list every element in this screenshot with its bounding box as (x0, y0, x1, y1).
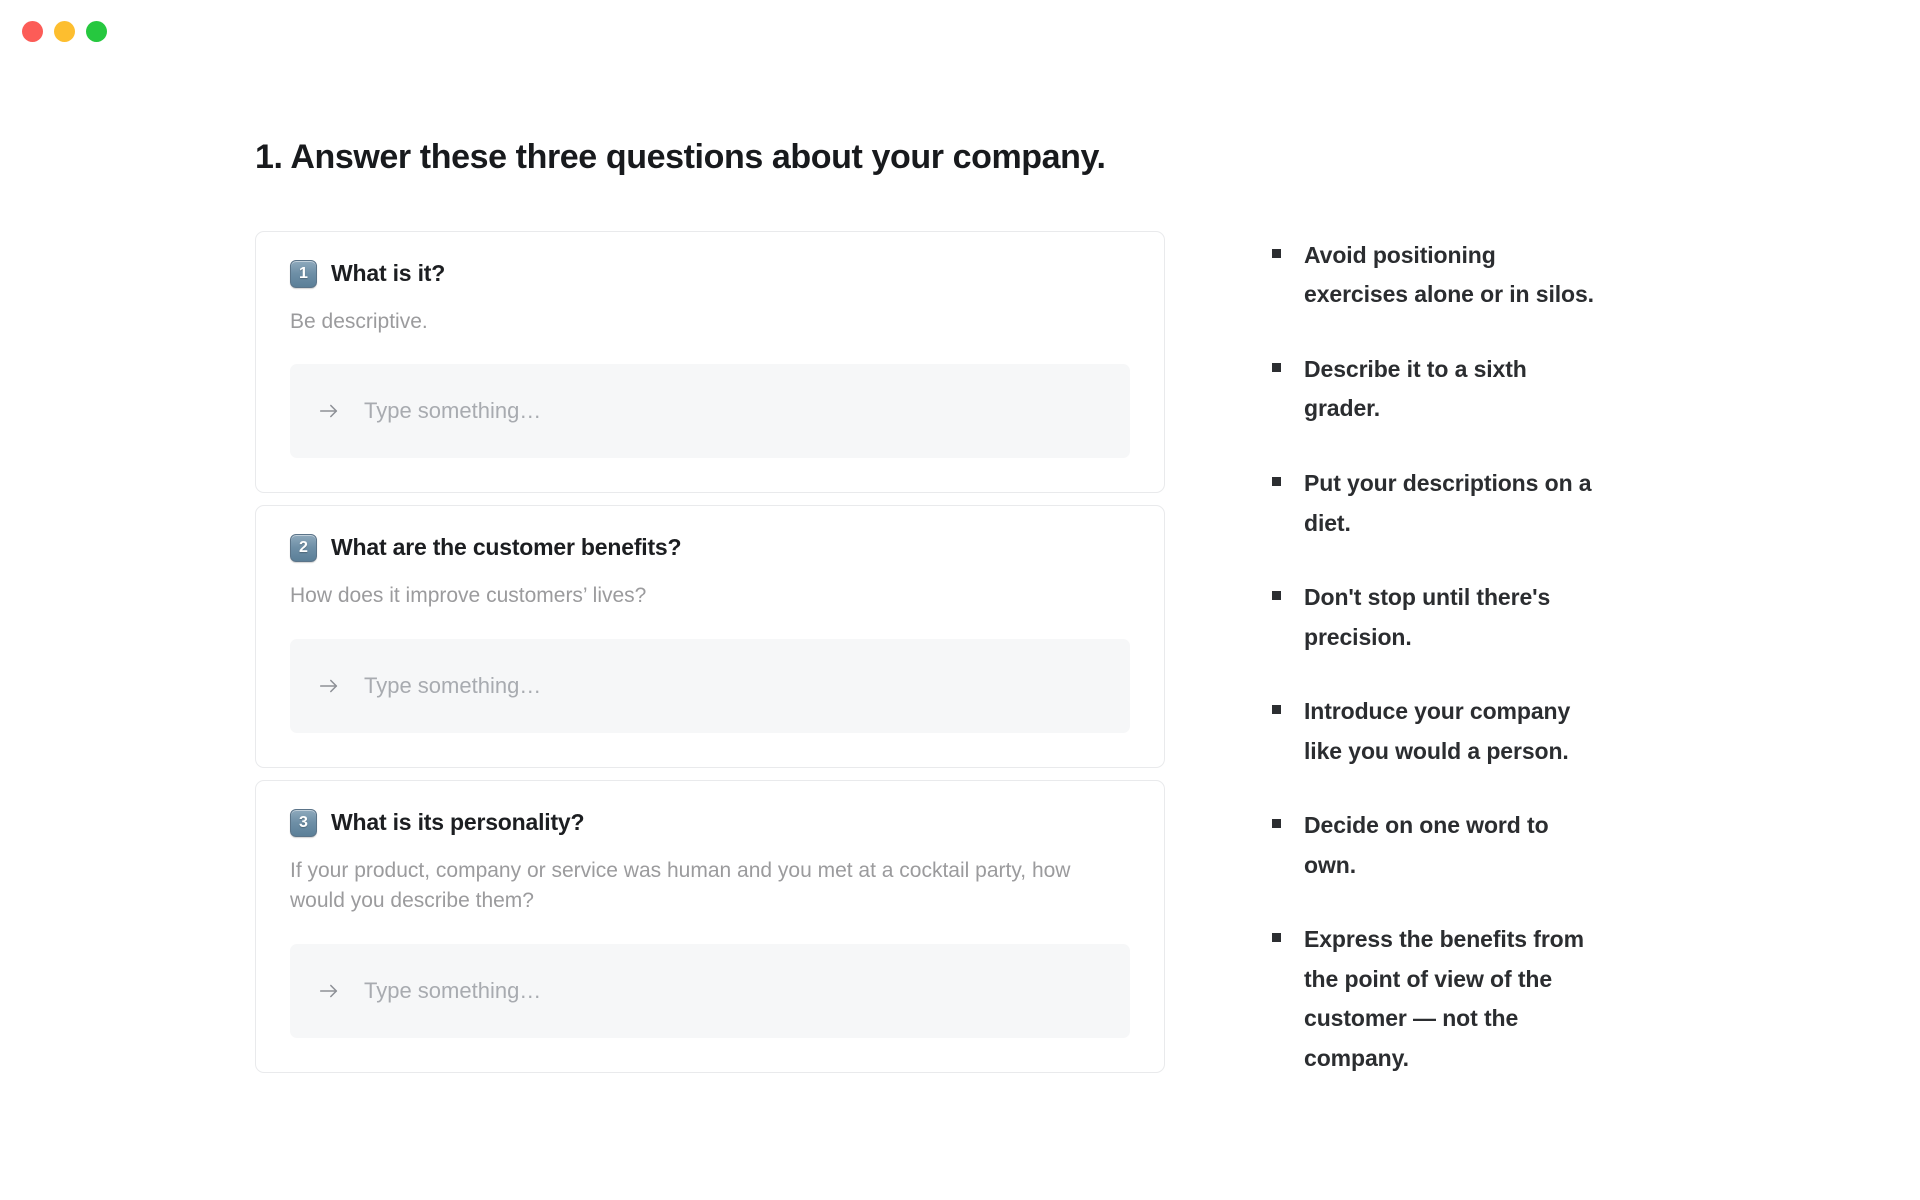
tips-list: Avoid positioning exercises alone or in … (1272, 236, 1602, 1079)
question-subtitle: Be descriptive. (290, 307, 1080, 337)
arrow-right-icon (318, 980, 340, 1002)
question-heading-row: 2 What are the customer benefits? (290, 534, 1130, 562)
answer-input[interactable]: Type something… (290, 639, 1130, 733)
window-minimize-button[interactable] (54, 21, 75, 42)
question-title: What are the customer benefits? (331, 534, 681, 562)
tip-text: Decide on one word to own. (1304, 806, 1602, 885)
list-item: Introduce your company like you would a … (1272, 692, 1602, 771)
question-title: What is it? (331, 260, 445, 288)
number-badge-icon: 2 (290, 534, 317, 562)
bullet-square-icon (1272, 363, 1281, 372)
window-close-button[interactable] (22, 21, 43, 42)
answer-input-placeholder: Type something… (364, 400, 541, 422)
answer-input-placeholder: Type something… (364, 675, 541, 697)
list-item: Describe it to a sixth grader. (1272, 350, 1602, 429)
bullet-square-icon (1272, 705, 1281, 714)
tip-text: Avoid positioning exercises alone or in … (1304, 236, 1602, 315)
answer-input-placeholder: Type something… (364, 980, 541, 1002)
question-title: What is its personality? (331, 809, 584, 837)
answer-input[interactable]: Type something… (290, 944, 1130, 1038)
questions-column: 1 What is it? Be descriptive. Type somet… (255, 231, 1165, 1085)
question-card: 1 What is it? Be descriptive. Type somet… (255, 231, 1165, 493)
bullet-square-icon (1272, 933, 1281, 942)
answer-input[interactable]: Type something… (290, 364, 1130, 458)
tip-text: Don't stop until there's precision. (1304, 578, 1602, 657)
bullet-square-icon (1272, 477, 1281, 486)
content-columns: 1 What is it? Be descriptive. Type somet… (255, 231, 1880, 1085)
list-item: Express the benefits from the point of v… (1272, 920, 1602, 1078)
question-subtitle: If your product, company or service was … (290, 856, 1080, 917)
tips-column: Avoid positioning exercises alone or in … (1165, 231, 1880, 1079)
question-subtitle: How does it improve customers’ lives? (290, 581, 1080, 611)
question-heading-row: 1 What is it? (290, 260, 1130, 288)
bullet-square-icon (1272, 249, 1281, 258)
tip-text: Describe it to a sixth grader. (1304, 350, 1602, 429)
list-item: Don't stop until there's precision. (1272, 578, 1602, 657)
list-item: Avoid positioning exercises alone or in … (1272, 236, 1602, 315)
list-item: Decide on one word to own. (1272, 806, 1602, 885)
arrow-right-icon (318, 675, 340, 697)
question-card: 2 What are the customer benefits? How do… (255, 505, 1165, 767)
window-zoom-button[interactable] (86, 21, 107, 42)
bullet-square-icon (1272, 819, 1281, 828)
number-badge-icon: 3 (290, 809, 317, 837)
page-title: 1. Answer these three questions about yo… (255, 137, 1880, 178)
question-card: 3 What is its personality? If your produ… (255, 780, 1165, 1073)
tip-text: Express the benefits from the point of v… (1304, 920, 1602, 1078)
window-titlebar (0, 0, 1920, 62)
tip-text: Put your descriptions on a diet. (1304, 464, 1602, 543)
question-heading-row: 3 What is its personality? (290, 809, 1130, 837)
number-badge-icon: 1 (290, 260, 317, 288)
list-item: Put your descriptions on a diet. (1272, 464, 1602, 543)
page-content: 1. Answer these three questions about yo… (0, 137, 1920, 1085)
arrow-right-icon (318, 400, 340, 422)
tip-text: Introduce your company like you would a … (1304, 692, 1602, 771)
bullet-square-icon (1272, 591, 1281, 600)
